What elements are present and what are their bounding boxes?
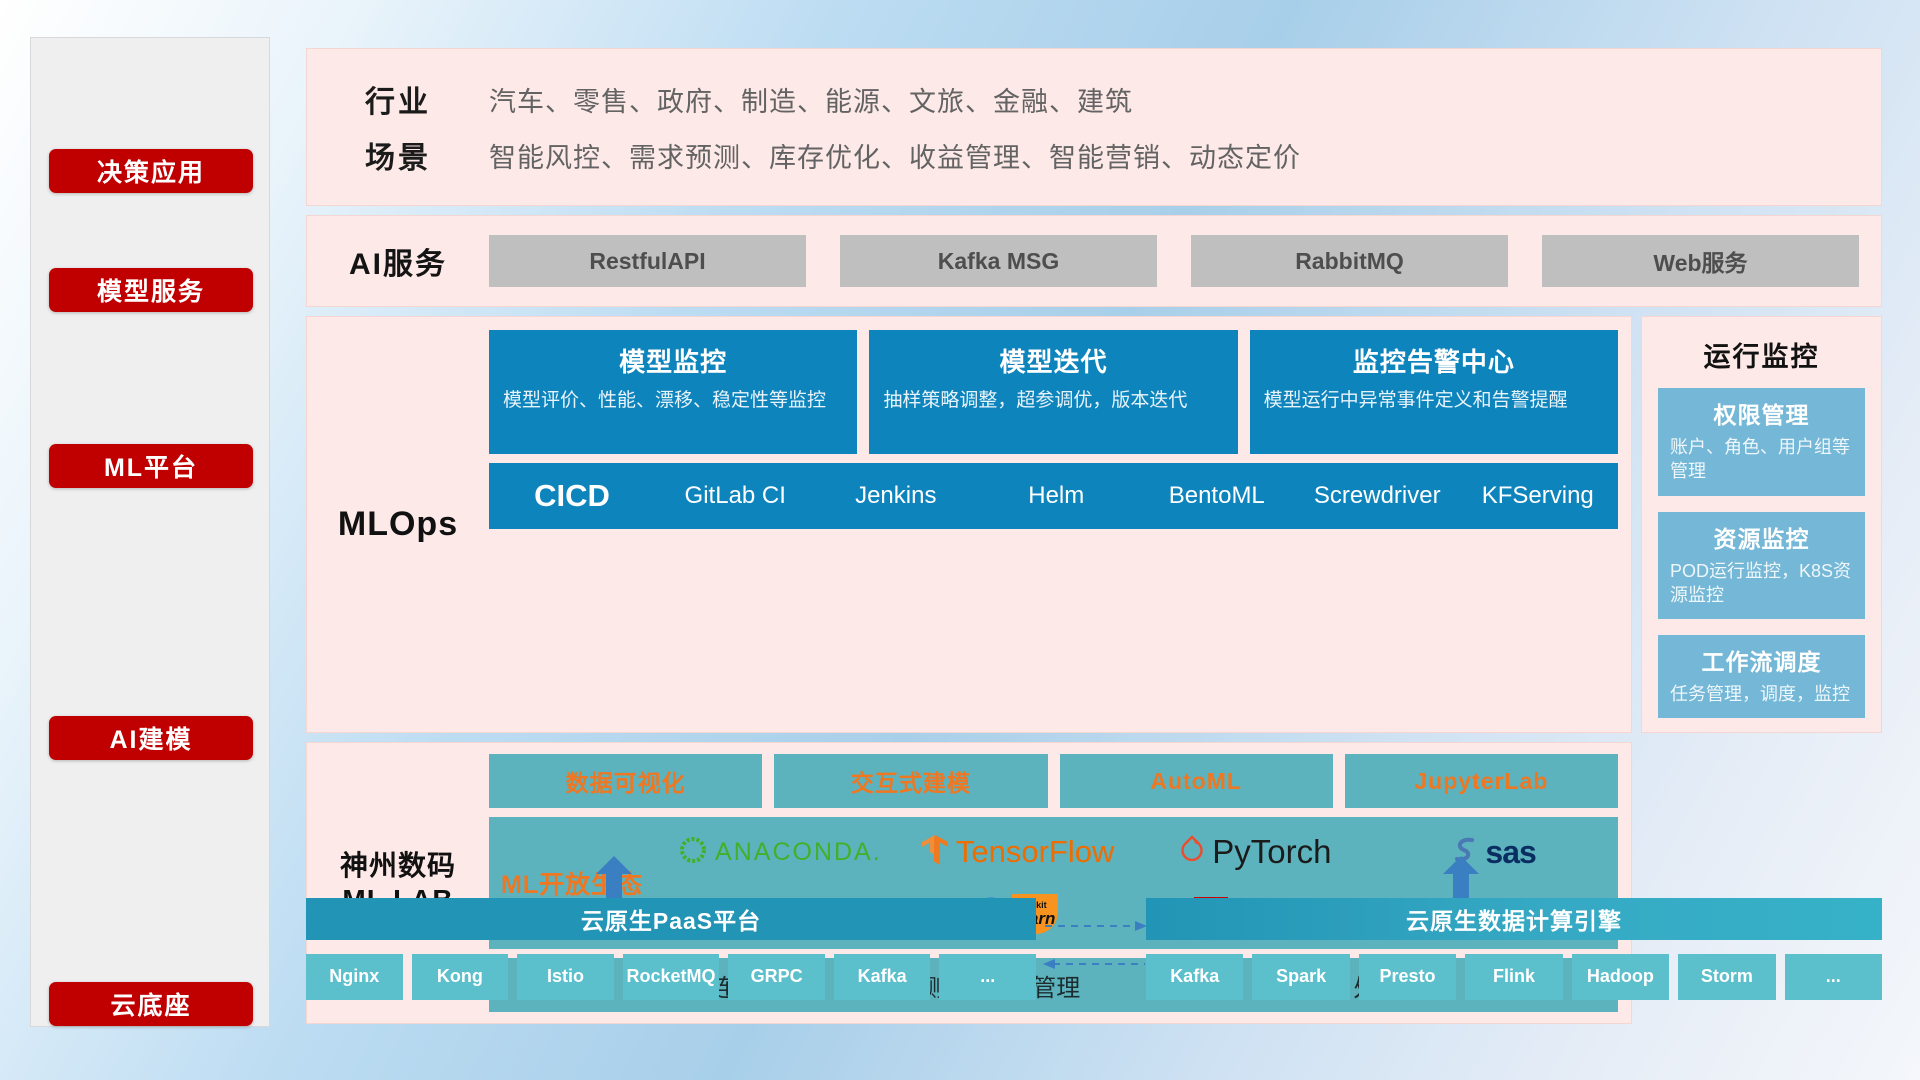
logo-pytorch: PyTorch: [1179, 833, 1331, 871]
cicd-item-bentoml[interactable]: BentoML: [1137, 483, 1298, 509]
card-desc: 模型评价、性能、漂移、稳定性等监控: [503, 388, 843, 414]
chip-label: RabbitMQ: [1295, 248, 1404, 275]
scenario-label: 场景: [307, 133, 489, 177]
industry-row: 行业 汽车、零售、政府、制造、能源、文旅、金融、建筑: [307, 71, 1881, 127]
data-chip-spark[interactable]: Spark: [1252, 954, 1349, 1000]
card-desc: POD运行监控，K8S资源监控: [1670, 559, 1853, 608]
paas-chip-kong[interactable]: Kong: [412, 954, 509, 1000]
data-chip-more[interactable]: ...: [1785, 954, 1882, 1000]
cicd-item-gitlab-ci[interactable]: GitLab CI: [655, 483, 816, 509]
card-desc: 任务管理，调度，监控: [1670, 682, 1853, 706]
paas-chip-grpc[interactable]: GRPC: [728, 954, 825, 1000]
paas-chip-kafka[interactable]: Kafka: [834, 954, 931, 1000]
card-title: 监控告警中心: [1264, 342, 1604, 379]
data-chip-storm[interactable]: Storm: [1678, 954, 1775, 1000]
paas-chip-istio[interactable]: Istio: [517, 954, 614, 1000]
cicd-item-kfserving[interactable]: KFServing: [1458, 483, 1619, 509]
lab-tool-interactive-modeling[interactable]: 交互式建模: [774, 754, 1047, 808]
lab-tool-automl[interactable]: AutoML: [1060, 754, 1333, 808]
ai-service-band: AI服务 RestfulAPI Kafka MSG RabbitMQ Web服务: [306, 215, 1882, 307]
cicd-item-list: GitLab CI Jenkins Helm BentoML Screwdriv…: [655, 483, 1618, 509]
rail-item-label: 模型服务: [97, 272, 205, 308]
rail-item-label: ML平台: [104, 448, 198, 484]
rail-item-model-service[interactable]: 模型服务: [49, 268, 253, 312]
cicd-title: CICD: [489, 478, 655, 514]
ml-lab-tool-list: 数据可视化 交互式建模 AutoML JupyterLab: [489, 754, 1618, 808]
arrow-up-paas-icon: [594, 856, 634, 900]
pytorch-icon: [1179, 835, 1205, 870]
card-title: 资源监控: [1670, 520, 1853, 554]
paas-chip-nginx[interactable]: Nginx: [306, 954, 403, 1000]
ai-service-chip-web-service[interactable]: Web服务: [1542, 235, 1859, 287]
industry-values: 汽车、零售、政府、制造、能源、文旅、金融、建筑: [489, 80, 1133, 119]
cicd-item-jenkins[interactable]: Jenkins: [816, 483, 977, 509]
mlops-card-model-monitoring[interactable]: 模型监控 模型评价、性能、漂移、稳定性等监控: [489, 330, 857, 454]
card-desc: 账户、角色、用户组等管理: [1670, 435, 1853, 484]
ai-service-chip-restfulapi[interactable]: RestfulAPI: [489, 235, 806, 287]
industry-label: 行业: [307, 77, 489, 121]
arrow-up-data-engine-icon: [1441, 856, 1481, 900]
anaconda-label: ANACONDA.: [715, 838, 882, 867]
card-desc: 抽样策略调整，超参调优，版本迭代: [883, 388, 1223, 414]
bidirectional-link-icon: [1041, 902, 1149, 988]
logo-anaconda: ANACONDA.: [678, 835, 882, 870]
rail-item-label: 云底座: [110, 986, 191, 1022]
mlops-card-list: 模型监控 模型评价、性能、漂移、稳定性等监控 模型迭代 抽样策略调整，超参调优，…: [489, 330, 1618, 454]
mlops-label: MLOps: [307, 330, 489, 719]
mlops-card-alert-center[interactable]: 监控告警中心 模型运行中异常事件定义和告警提醒: [1250, 330, 1618, 454]
runtime-monitoring-column: 运行监控 权限管理 账户、角色、用户组等管理 资源监控 POD运行监控，K8S资…: [1641, 316, 1882, 733]
ai-service-items: RestfulAPI Kafka MSG RabbitMQ Web服务: [489, 235, 1859, 287]
industry-scenario-band: 行业 汽车、零售、政府、制造、能源、文旅、金融、建筑 场景 智能风控、需求预测、…: [306, 48, 1882, 206]
tensorflow-icon: [921, 834, 949, 871]
anaconda-icon: [678, 835, 708, 870]
pytorch-label: PyTorch: [1212, 833, 1331, 871]
cicd-bar: CICD GitLab CI Jenkins Helm BentoML Scre…: [489, 463, 1618, 529]
ai-service-label: AI服务: [307, 239, 489, 283]
mlops-content: 模型监控 模型评价、性能、漂移、稳定性等监控 模型迭代 抽样策略调整，超参调优，…: [489, 330, 1618, 719]
scenario-row: 场景 智能风控、需求预测、库存优化、收益管理、智能营销、动态定价: [307, 127, 1881, 183]
cloud-foundation-section: 云原生PaaS平台 Nginx Kong Istio RocketMQ GRPC…: [306, 880, 1882, 1030]
chip-label: Web服务: [1653, 244, 1747, 278]
chip-label: RestfulAPI: [589, 248, 705, 275]
mlops-row: MLOps 模型监控 模型评价、性能、漂移、稳定性等监控 模型迭代 抽样策略调整…: [306, 316, 1882, 733]
rail-item-decision-app[interactable]: 决策应用: [49, 149, 253, 193]
data-chip-presto[interactable]: Presto: [1359, 954, 1456, 1000]
rail-item-label: AI建模: [109, 720, 192, 756]
logo-tensorflow: TensorFlow: [921, 834, 1115, 871]
lab-tool-data-visualization[interactable]: 数据可视化: [489, 754, 762, 808]
data-engine-chip-list: Kafka Spark Presto Flink Hadoop Storm ..…: [1146, 954, 1882, 1000]
sas-label: sas: [1485, 834, 1535, 871]
mlops-band: MLOps 模型监控 模型评价、性能、漂移、稳定性等监控 模型迭代 抽样策略调整…: [306, 316, 1632, 733]
cloud-data-engine-title: 云原生数据计算引擎: [1146, 898, 1882, 940]
card-title: 权限管理: [1670, 396, 1853, 430]
monitor-card-permission[interactable]: 权限管理 账户、角色、用户组等管理: [1658, 388, 1865, 496]
mlops-card-model-iteration[interactable]: 模型迭代 抽样策略调整，超参调优，版本迭代: [869, 330, 1237, 454]
layer-rail: 决策应用 模型服务 ML平台 AI建模 云底座: [30, 37, 270, 1027]
data-chip-hadoop[interactable]: Hadoop: [1572, 954, 1669, 1000]
card-title: 模型迭代: [883, 342, 1223, 379]
ai-service-chip-rabbitmq[interactable]: RabbitMQ: [1191, 235, 1508, 287]
paas-chip-more[interactable]: ...: [939, 954, 1036, 1000]
monitor-card-workflow[interactable]: 工作流调度 任务管理，调度，监控: [1658, 635, 1865, 718]
rail-item-ai-modeling[interactable]: AI建模: [49, 716, 253, 760]
lab-tool-jupyterlab[interactable]: JupyterLab: [1345, 754, 1618, 808]
card-title: 模型监控: [503, 342, 843, 379]
architecture-diagram: 决策应用 模型服务 ML平台 AI建模 云底座 行业 汽车、零售、政府、制造、能…: [0, 0, 1920, 1080]
card-title: 工作流调度: [1670, 643, 1853, 677]
ai-service-chip-kafka-msg[interactable]: Kafka MSG: [840, 235, 1157, 287]
ml-lab-label-line1: 神州数码: [340, 849, 456, 883]
data-chip-kafka[interactable]: Kafka: [1146, 954, 1243, 1000]
cicd-item-helm[interactable]: Helm: [976, 483, 1137, 509]
rail-item-cloud-foundation[interactable]: 云底座: [49, 982, 253, 1026]
chip-label: Kafka MSG: [938, 248, 1059, 275]
rail-item-label: 决策应用: [97, 153, 205, 189]
paas-chip-rocketmq[interactable]: RocketMQ: [623, 954, 720, 1000]
monitoring-title: 运行监控: [1658, 335, 1865, 374]
tensorflow-label: TensorFlow: [956, 834, 1115, 870]
card-desc: 模型运行中异常事件定义和告警提醒: [1264, 388, 1604, 414]
paas-chip-list: Nginx Kong Istio RocketMQ GRPC Kafka ...: [306, 954, 1036, 1000]
data-chip-flink[interactable]: Flink: [1465, 954, 1562, 1000]
main-content-column: 行业 汽车、零售、政府、制造、能源、文旅、金融、建筑 场景 智能风控、需求预测、…: [306, 48, 1882, 1024]
monitor-card-resource[interactable]: 资源监控 POD运行监控，K8S资源监控: [1658, 512, 1865, 620]
cicd-item-screwdriver[interactable]: Screwdriver: [1297, 483, 1458, 509]
rail-item-ml-platform[interactable]: ML平台: [49, 444, 253, 488]
scenario-values: 智能风控、需求预测、库存优化、收益管理、智能营销、动态定价: [489, 136, 1301, 175]
cloud-paas-title: 云原生PaaS平台: [306, 898, 1036, 940]
